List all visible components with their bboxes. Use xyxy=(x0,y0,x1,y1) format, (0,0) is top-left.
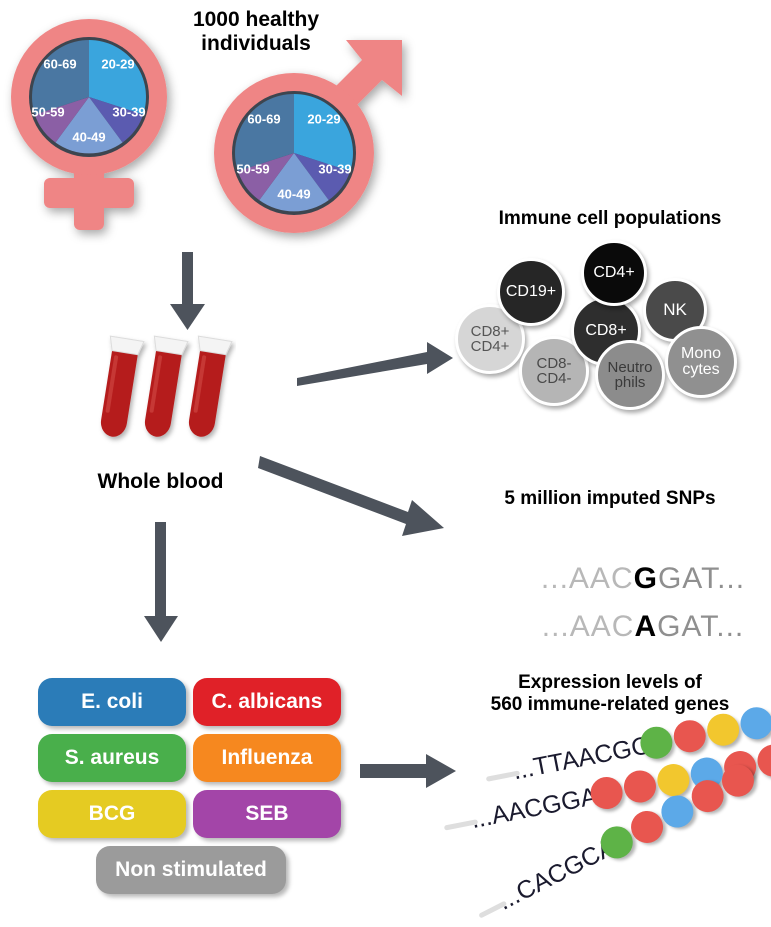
section-title-immune-cells: Immune cell populations xyxy=(450,208,770,230)
cell-monocytes: Mono cytes xyxy=(665,326,737,398)
stimulation-label: BCG xyxy=(89,802,136,826)
stimulation-label: E. coli xyxy=(81,690,143,714)
stimulation-c-albicans[interactable]: C. albicans xyxy=(193,678,341,726)
cell-label-line: CD19+ xyxy=(506,284,556,300)
stimulation-seb[interactable]: SEB xyxy=(193,790,341,838)
age-label-30-39: 30-39 xyxy=(112,104,145,119)
cell-label-line: CD4+ xyxy=(471,339,510,354)
stimulation-non-stimulated[interactable]: Non stimulated xyxy=(96,846,286,894)
blood-tube xyxy=(183,336,232,439)
cell-label-line: CD8- xyxy=(536,356,571,371)
arrow-blood-to-stimulation xyxy=(142,522,182,642)
age-label-60-69: 60-69 xyxy=(43,56,76,71)
cell-neutrophils: Neutro phils xyxy=(595,340,665,410)
stimulation-label: S. aureus xyxy=(65,746,160,770)
section-title-expression: Expression levels of 560 immune-related … xyxy=(450,672,770,716)
stimulation-e-coli[interactable]: E. coli xyxy=(38,678,186,726)
arrow-blood-to-snps xyxy=(258,450,448,550)
age-label-male-60-69: 60-69 xyxy=(247,111,280,126)
expression-bead xyxy=(755,742,771,780)
age-label-male-30-39: 30-39 xyxy=(318,161,351,176)
cell-label-line: phils xyxy=(607,375,652,390)
cell-label-line: CD4- xyxy=(536,371,571,386)
snp-sequence-illustration: ...AACGGAT... ...AACAGAT... xyxy=(470,528,760,624)
expression-bead xyxy=(704,711,742,749)
cell-label-line: CD4+ xyxy=(593,265,634,281)
stimulation-label: Non stimulated xyxy=(115,858,267,882)
cell-label-line: NK xyxy=(663,301,687,318)
snp-sequence-row: ...AACAGAT... xyxy=(470,576,760,678)
blood-tubes-illustration xyxy=(96,330,236,465)
stimulation-label: Influenza xyxy=(221,746,312,770)
study-design-diagram: 1000 healthy individuals xyxy=(0,0,771,922)
arrow-blood-to-immune xyxy=(295,330,455,390)
stimulation-label: SEB xyxy=(245,802,288,826)
blood-tube xyxy=(96,336,144,439)
cell-label-line: CD8+ xyxy=(471,324,510,339)
cell-label-line: CD8+ xyxy=(585,323,626,339)
gene-expression-strands: ...TTAACGG ...AACGGAT ...CACGCAA xyxy=(455,726,771,916)
age-label-40-49: 40-49 xyxy=(72,129,105,144)
cell-cd4: CD4+ xyxy=(581,240,647,306)
age-label-male-50-59: 50-59 xyxy=(236,161,269,176)
stimulation-bcg[interactable]: BCG xyxy=(38,790,186,838)
label-whole-blood: Whole blood xyxy=(58,470,263,494)
immune-cell-population-cluster: CD8+ CD4+ CD19+ CD8- CD4- CD8+ CD4+ Neut… xyxy=(455,240,771,415)
snp-suffix: GAT... xyxy=(657,610,744,643)
cell-label-line: cytes xyxy=(681,362,721,378)
section-title-snps: 5 million imputed SNPs xyxy=(450,488,770,510)
stimulation-s-aureus[interactable]: S. aureus xyxy=(38,734,186,782)
arrow-cohort-to-blood xyxy=(168,252,208,330)
age-label-50-59: 50-59 xyxy=(31,104,64,119)
stimulation-influenza[interactable]: Influenza xyxy=(193,734,341,782)
male-symbol: 20-29 30-39 40-49 50-59 60-69 xyxy=(206,34,416,244)
expression-bead xyxy=(621,768,659,806)
cell-label-line: Mono xyxy=(681,346,721,362)
snp-variant-allele: A xyxy=(634,610,657,643)
arrow-stimulation-to-expression xyxy=(360,752,460,792)
age-label-20-29: 20-29 xyxy=(101,56,134,71)
female-symbol: 20-29 30-39 40-49 50-59 60-69 xyxy=(2,12,192,242)
expression-bead xyxy=(655,761,693,799)
snp-prefix: ...AAC xyxy=(542,610,635,643)
blood-tube xyxy=(139,336,188,439)
expression-bead xyxy=(671,717,709,755)
cell-label-line: Neutro xyxy=(607,360,652,375)
cell-cd19: CD19+ xyxy=(497,258,565,326)
age-label-male-40-49: 40-49 xyxy=(277,186,310,201)
age-label-male-20-29: 20-29 xyxy=(307,111,340,126)
stimulation-label: C. albicans xyxy=(212,690,323,714)
